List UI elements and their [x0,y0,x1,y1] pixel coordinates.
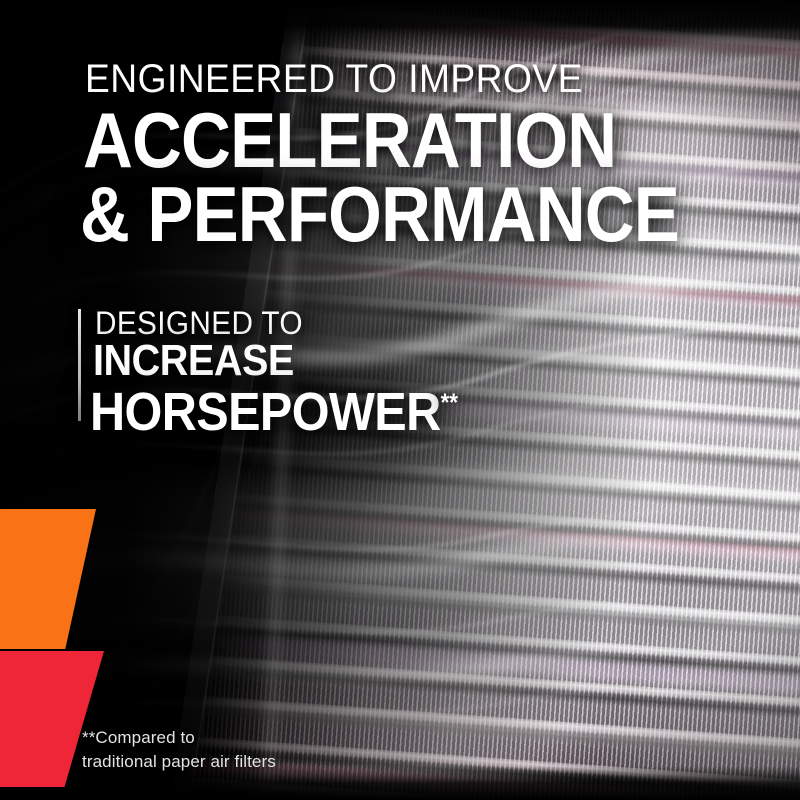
primary-headline-line-2: & PERFORMANCE [80,174,679,254]
primary-kicker: ENGINEERED TO IMPROVE [85,57,583,101]
copy-block: ENGINEERED TO IMPROVE ACCELERATION & PER… [0,0,800,800]
headline-divider-rule [78,309,81,421]
footnote-line-2: traditional paper air filters [82,750,276,774]
footnote-line-1: **Compared to [82,726,276,750]
footnote-marker: ** [441,390,458,417]
secondary-headline-word: HORSEPOWER [90,382,441,442]
primary-headline-line-1: ACCELERATION [83,100,616,180]
marketing-banner: ENGINEERED TO IMPROVE ACCELERATION & PER… [0,0,800,800]
footnote-text: **Compared to traditional paper air filt… [82,726,276,774]
secondary-headline-line-2: HORSEPOWER** [90,375,458,441]
